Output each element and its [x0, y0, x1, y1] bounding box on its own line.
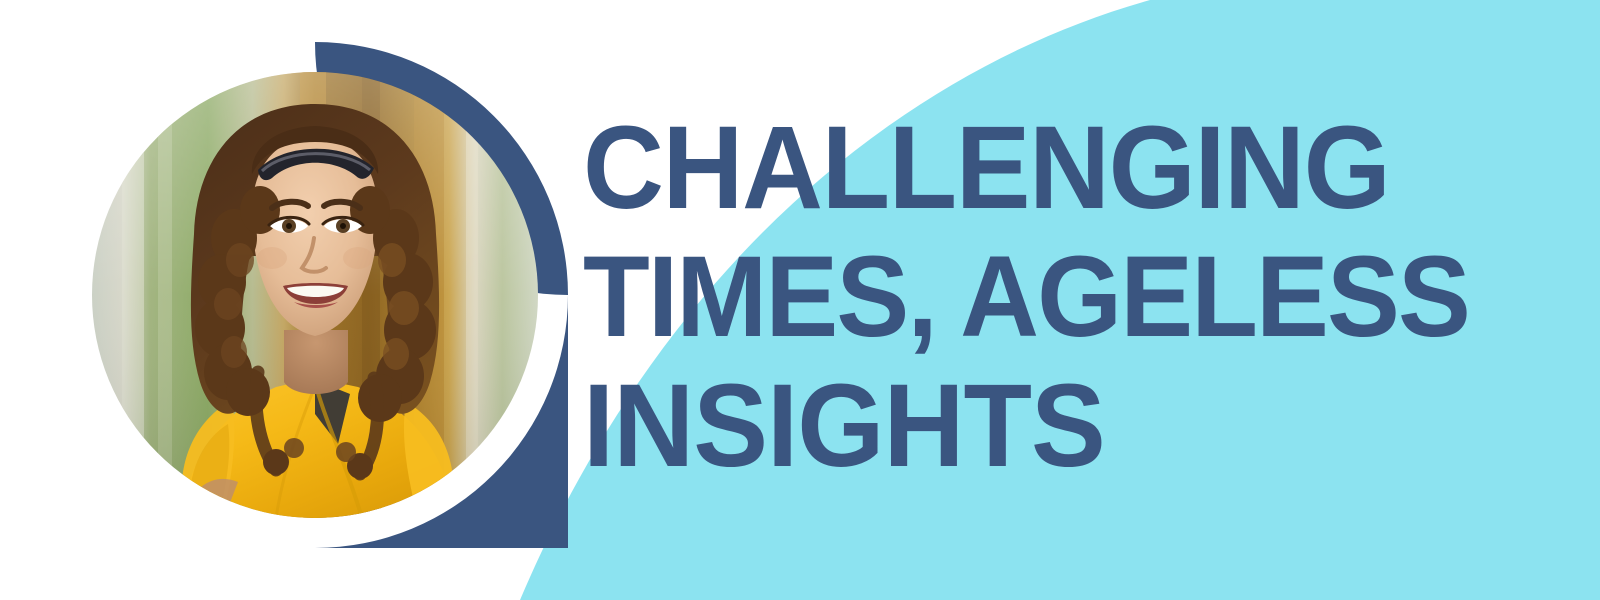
- headline-line-3: INSIGHTS: [583, 362, 1543, 491]
- portrait-photo: [92, 72, 538, 518]
- headline-block: CHALLENGING TIMES, AGELESS INSIGHTS: [583, 104, 1593, 491]
- headline-line-1: CHALLENGING: [583, 104, 1543, 233]
- portrait-pin-frame: [62, 42, 568, 548]
- portrait-neck: [284, 330, 348, 394]
- headline-line-2: TIMES, AGELESS: [583, 233, 1543, 362]
- banner-root: CHALLENGING TIMES, AGELESS INSIGHTS: [0, 0, 1600, 600]
